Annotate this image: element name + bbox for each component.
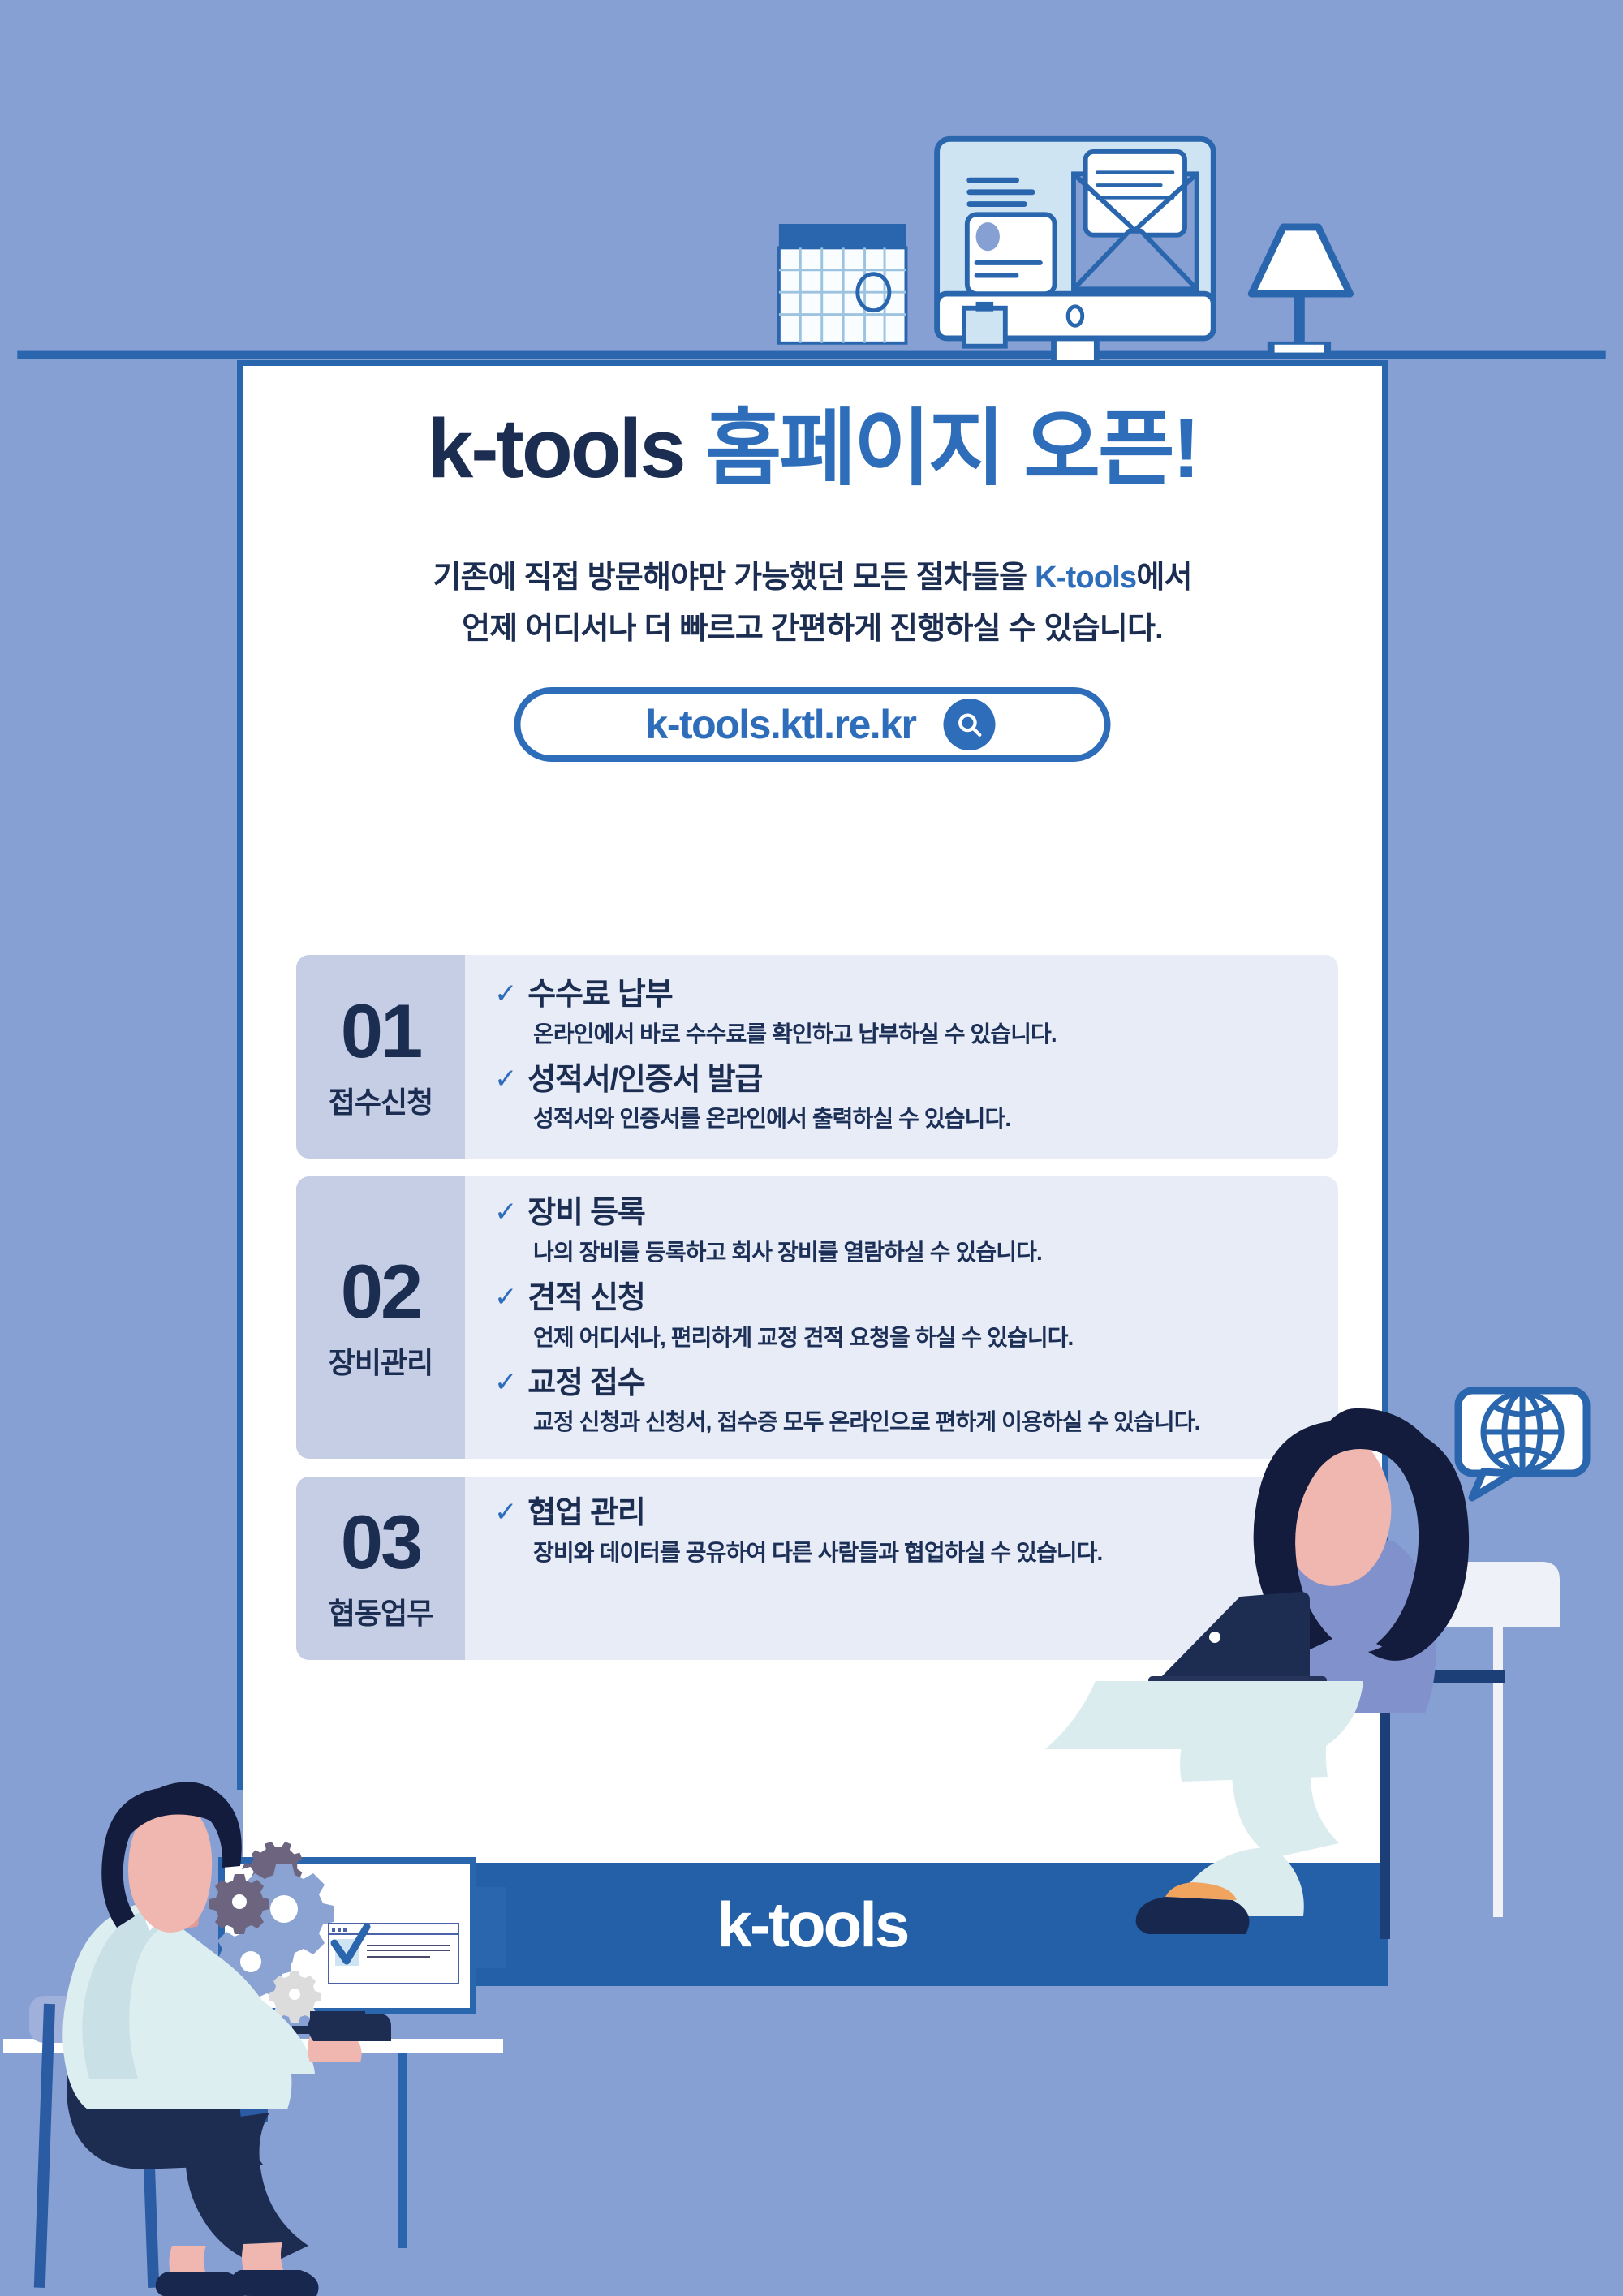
feature-title: 협업 관리 — [527, 1494, 644, 1533]
feature-description: 교정 신청과 신청서, 접수증 모두 온라인으로 편하게 이용하실 수 있습니다… — [533, 1406, 1315, 1438]
feature-title: 장비 등록 — [527, 1194, 644, 1233]
globe-speech-bubble-icon — [1458, 1391, 1586, 1498]
step-body: ✓ 장비 등록 나의 장비를 등록하고 회사 장비를 열람하실 수 있습니다. … — [465, 1176, 1338, 1459]
feature-item: ✓ 견적 신청 언제 어디서나, 편리하게 교정 견적 요청을 하실 수 있습니… — [494, 1279, 1315, 1353]
subcopy-line1-a: 기존에 직접 방문해야만 가능했던 모든 절차들을 — [433, 561, 1035, 595]
feature-title: 성적서/인증서 발급 — [527, 1061, 762, 1100]
headline-rest: 홈페이지 오픈! — [705, 402, 1198, 495]
envelope-icon — [1074, 152, 1197, 289]
step-name: 협동업무 — [329, 1590, 433, 1632]
step-name: 장비관리 — [329, 1339, 433, 1382]
page-title: k-tools홈페이지 오픈! — [243, 405, 1382, 492]
globe-icon — [1483, 1393, 1561, 1471]
feature-description: 장비와 데이터를 공유하여 다른 사람들과 협업하실 수 있습니다. — [533, 1537, 1315, 1568]
feature-item: ✓ 교정 접수 교정 신청과 신청서, 접수증 모두 온라인으로 편하게 이용하… — [494, 1365, 1315, 1438]
feature-item: ✓ 성적서/인증서 발급 성적서와 인증서를 온라인에서 출력하실 수 있습니다… — [494, 1061, 1315, 1135]
feature-title: 견적 신청 — [527, 1279, 644, 1318]
search-url-text: k-tools.ktl.re.kr — [646, 701, 916, 748]
feature-description: 성적서와 인증서를 온라인에서 출력하실 수 있습니다. — [533, 1103, 1315, 1134]
step-badge: 03 협동업무 — [296, 1477, 465, 1660]
step-number: 02 — [341, 1253, 421, 1330]
subcopy-line1-b: 에서 — [1136, 561, 1191, 595]
subheading: 기존에 직접 방문해야만 가능했던 모든 절차들을 K-tools에서 언제 어… — [291, 553, 1333, 654]
step-number: 03 — [341, 1504, 421, 1580]
step-number: 01 — [341, 993, 421, 1069]
feature-title: 수수료 납부 — [527, 976, 672, 1015]
check-icon: ✓ — [494, 1194, 516, 1230]
step-row: 03 협동업무 ✓ 협업 관리 장비와 데이터를 공유하여 다른 사람들과 협업… — [296, 1477, 1338, 1660]
step-row: 01 접수신청 ✓ 수수료 납부 온라인에서 바로 수수료를 확인하고 납부하실… — [296, 955, 1338, 1159]
poster-root: k-tools홈페이지 오픈! 기존에 직접 방문해야만 가능했던 모든 절차들… — [0, 0, 1623, 2296]
feature-description: 언제 어디서나, 편리하게 교정 견적 요청을 하실 수 있습니다. — [533, 1322, 1315, 1353]
desk-lamp-icon — [1251, 227, 1350, 356]
top-desk-illustration — [0, 0, 1623, 373]
feature-item: ✓ 수수료 납부 온라인에서 바로 수수료를 확인하고 납부하실 수 있습니다. — [494, 976, 1315, 1050]
feature-item: ✓ 장비 등록 나의 장비를 등록하고 회사 장비를 열람하실 수 있습니다. — [494, 1194, 1315, 1268]
search-icon[interactable] — [943, 699, 995, 750]
step-body: ✓ 수수료 납부 온라인에서 바로 수수료를 확인하고 납부하실 수 있습니다.… — [465, 955, 1338, 1159]
chair — [1363, 1562, 1560, 1939]
feature-title: 교정 접수 — [527, 1365, 644, 1404]
step-body: ✓ 협업 관리 장비와 데이터를 공유하여 다른 사람들과 협업하실 수 있습니… — [465, 1477, 1338, 1660]
step-badge: 02 장비관리 — [296, 1176, 465, 1459]
step-name: 접수신청 — [329, 1079, 433, 1121]
chair — [29, 1996, 268, 2288]
check-icon: ✓ — [494, 1494, 516, 1530]
feature-item: ✓ 협업 관리 장비와 데이터를 공유하여 다른 사람들과 협업하실 수 있습니… — [494, 1494, 1315, 1568]
step-row: 02 장비관리 ✓ 장비 등록 나의 장비를 등록하고 회사 장비를 열람하실 … — [296, 1176, 1338, 1459]
steps-list: 01 접수신청 ✓ 수수료 납부 온라인에서 바로 수수료를 확인하고 납부하실… — [296, 955, 1338, 1678]
subcopy-line2: 언제 어디서나 더 빠르고 간편하게 진행하실 수 있습니다. — [462, 612, 1163, 646]
headline-brand: k-tools — [427, 402, 684, 495]
desktop-monitor-icon — [937, 139, 1214, 373]
main-poster-card: k-tools홈페이지 오픈! 기존에 직접 방문해야만 가능했던 모든 절차들… — [237, 360, 1388, 1986]
check-icon: ✓ — [494, 1365, 516, 1400]
calendar-icon — [779, 224, 906, 343]
footer-logo: k-tools — [717, 1888, 908, 1962]
step-badge: 01 접수신청 — [296, 955, 465, 1159]
subcopy-brand: K-tools — [1035, 561, 1136, 595]
check-icon: ✓ — [494, 1061, 516, 1097]
footer-bar: k-tools — [237, 1863, 1388, 1986]
check-icon: ✓ — [494, 976, 516, 1012]
feature-description: 온라인에서 바로 수수료를 확인하고 납부하실 수 있습니다. — [533, 1018, 1315, 1050]
url-search-bar[interactable]: k-tools.ktl.re.kr — [514, 687, 1111, 762]
feature-description: 나의 장비를 등록하고 회사 장비를 열람하실 수 있습니다. — [533, 1236, 1315, 1268]
check-icon: ✓ — [494, 1279, 516, 1315]
